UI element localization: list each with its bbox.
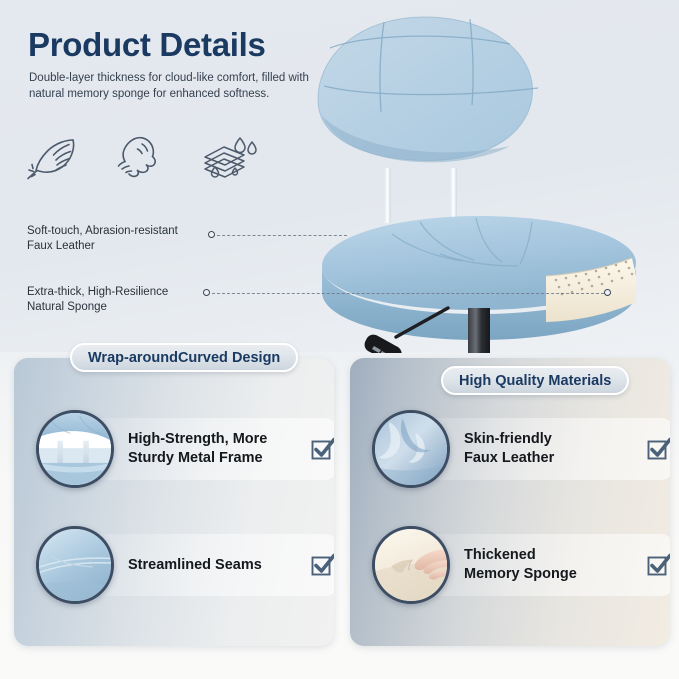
callout-marker-faux-leather [208,231,215,238]
callout-marker-sponge-endpoint [604,289,611,296]
leader-line-faux-leather [217,235,347,236]
hand-wiping-cloth-icon [112,135,172,183]
feature-label-faux-leather: Skin-friendly Faux Leather [464,430,634,468]
faux-leather-photo [372,410,450,488]
layered-water-drops-icon [202,135,262,183]
feature-label-streamlined-seams: Streamlined Seams [128,556,298,575]
callout-faux-leather-line2: Faux Leather [27,239,178,254]
checkmark-icon-faux-leather [646,436,670,462]
feather-icon [24,135,84,183]
badge-wrap-around-curved-design: Wrap-aroundCurved Design [70,343,298,372]
callout-faux-leather: Soft-touch, Abrasion-resistant Faux Leat… [27,224,178,254]
panel-high-quality-materials: Skin-friendly Faux Leather [350,358,670,646]
feature-row-faux-leather: Skin-friendly Faux Leather [364,410,660,488]
feature-icon-row [24,135,284,183]
feature-row-memory-sponge: Thickened Memory Sponge [364,526,660,604]
panel-wrap-around-curved-design: High-Strength, More Sturdy Metal Frame [14,358,334,646]
feature-label-metal-frame: High-Strength, More Sturdy Metal Frame [128,430,298,468]
page-title: Product Details [28,26,266,64]
callout-natural-sponge-line1: Extra-thick, High-Resilience [27,285,168,300]
callout-marker-natural-sponge [203,289,210,296]
memory-sponge-hand-photo [372,526,450,604]
checkmark-icon-memory-sponge [646,552,670,578]
callout-faux-leather-line1: Soft-touch, Abrasion-resistant [27,224,178,239]
checkmark-icon-metal-frame [310,436,334,462]
checkmark-icon-streamlined-seams [310,552,334,578]
feature-row-streamlined-seams: Streamlined Seams [28,526,324,604]
callout-natural-sponge-line2: Natural Sponge [27,300,168,315]
seam-detail-photo [36,526,114,604]
product-details-infographic: Product Details Double-layer thickness f… [0,0,679,679]
page-subtitle: Double-layer thickness for cloud-like co… [29,70,319,102]
callout-natural-sponge: Extra-thick, High-Resilience Natural Spo… [27,285,168,315]
badge-high-quality-materials: High Quality Materials [441,366,629,395]
feature-row-metal-frame: High-Strength, More Sturdy Metal Frame [28,410,324,488]
blue-office-chair-cutaway [300,8,679,353]
leader-line-natural-sponge [212,293,604,294]
metal-frame-photo [36,410,114,488]
feature-label-memory-sponge: Thickened Memory Sponge [464,546,634,584]
